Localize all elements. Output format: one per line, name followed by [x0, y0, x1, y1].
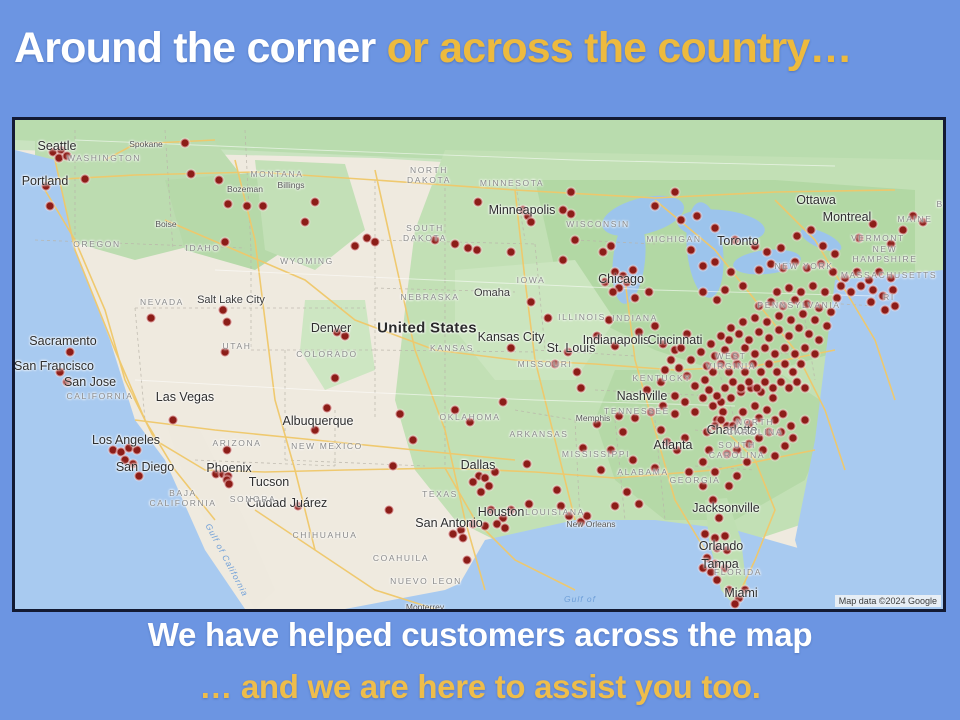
map-attribution: Map data ©2024 Google [835, 595, 941, 607]
footer-line-2: … and we are here to assist you too. [0, 668, 960, 706]
headline-gold: or across the country… [387, 24, 852, 72]
slide: Around the corner or across the country… [0, 0, 960, 720]
map-basemap [15, 120, 943, 609]
footer-line-1: We have helped customers across the map [0, 616, 960, 654]
page-title: Around the corner or across the country… [0, 26, 960, 71]
map-frame[interactable]: United States Seattle Spokane Portland B… [12, 117, 946, 612]
headline-white: Around the corner [14, 24, 387, 72]
map-canvas[interactable]: United States Seattle Spokane Portland B… [15, 120, 943, 609]
